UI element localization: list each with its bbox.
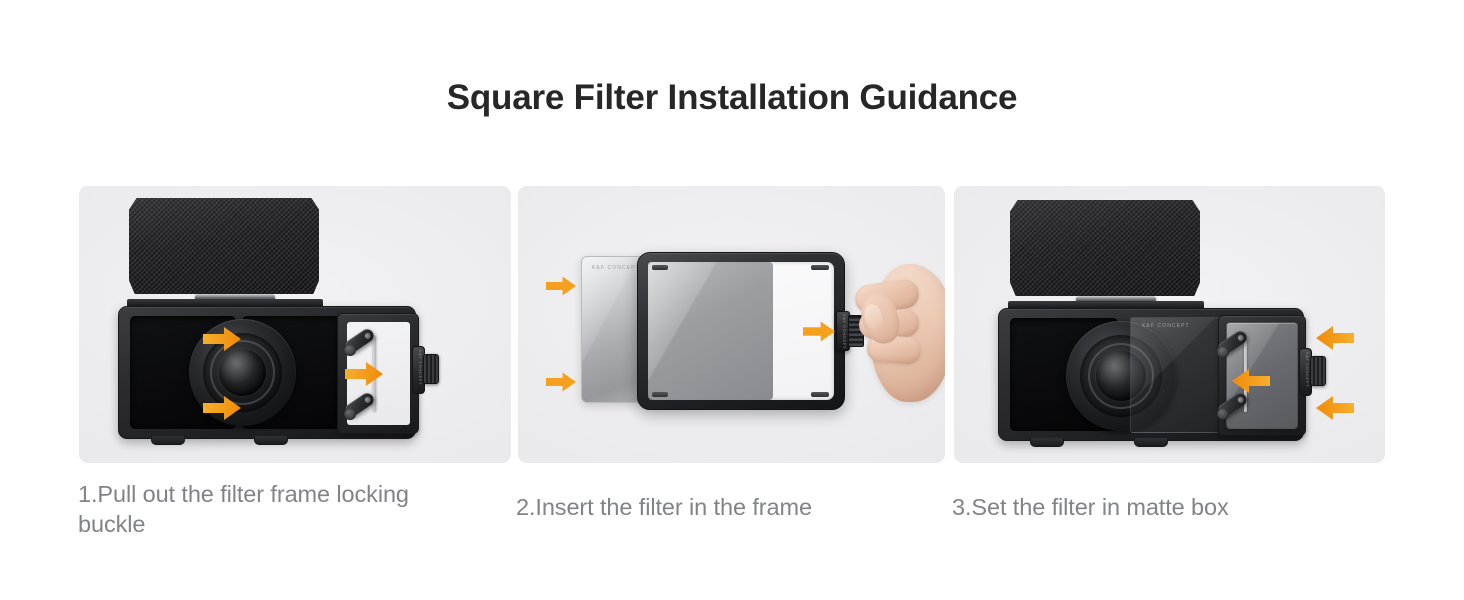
arrow-step3-bottom	[1316, 396, 1354, 420]
lens-specular-highlight	[219, 349, 266, 396]
matte-box-foot-right	[1134, 438, 1168, 447]
filter-over-lens	[1130, 317, 1226, 433]
side-knob[interactable]	[423, 354, 439, 384]
brand-label-vertical: K&F CONCEPT	[1305, 352, 1310, 387]
locking-buckle-bottom-pivot	[1217, 408, 1229, 420]
arrow-step1-slot	[345, 362, 383, 386]
step-2-image-panel: K&F CONCEPT K&F CONCEPT	[518, 186, 945, 463]
carbon-fiber-flag-icon	[129, 198, 319, 294]
arrow-step1-top	[203, 327, 241, 351]
step-3-caption: 3.Set the filter in matte box	[952, 492, 1392, 522]
arrow-step2-tab	[803, 321, 835, 342]
step-1-caption: 1.Pull out the filter frame locking buck…	[78, 479, 518, 539]
matte-box-foot-left	[151, 436, 185, 445]
frame-brand-label: K&F CONCEPT	[842, 314, 847, 349]
installation-guide-page: Square Filter Installation Guidance	[0, 0, 1464, 600]
arrow-step1-bottom	[203, 396, 241, 420]
arrow-step2-top-left	[546, 276, 576, 296]
locking-buckle-bottom-pivot	[344, 408, 356, 420]
arrow-step2-bottom-left	[546, 372, 576, 392]
step-3-image-panel: K&F CONCEPT K&F CONCEPT	[954, 186, 1385, 463]
arrow-step3-top	[1316, 326, 1354, 350]
frame-corner-br	[811, 392, 829, 397]
locking-buckle-top-pivot	[344, 344, 356, 356]
locking-buckle-top-pivot	[1217, 346, 1229, 358]
matte-box-foot-left	[1030, 438, 1064, 447]
carbon-fiber-flag-icon	[1010, 200, 1200, 296]
filter-brand-label: K&F CONCEPT	[1142, 323, 1190, 329]
frame-corner-tl	[652, 265, 668, 270]
arrow-step3-middle	[1232, 369, 1270, 393]
frame-corner-tr	[811, 265, 829, 270]
filter-brand-label: K&F CONCEPT	[592, 265, 640, 271]
page-title: Square Filter Installation Guidance	[0, 78, 1464, 118]
matte-box-foot-right	[254, 436, 288, 445]
step-2-caption: 2.Insert the filter in the frame	[516, 492, 946, 522]
side-knob[interactable]	[1310, 356, 1326, 386]
filter-inserted-glass	[648, 262, 773, 400]
brand-label-vertical: K&F CONCEPT	[418, 350, 423, 385]
step-1-image-panel: K&F CONCEPT	[79, 186, 511, 463]
frame-corner-bl	[652, 392, 668, 397]
steps-panel-row: K&F CONCEPT	[0, 186, 1464, 463]
